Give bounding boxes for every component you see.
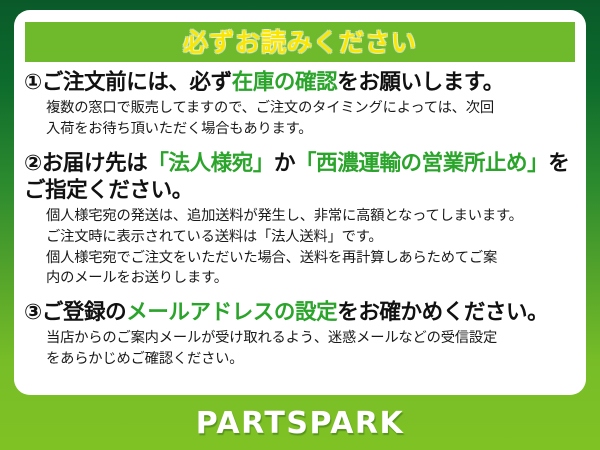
notice-heading-1: ①ご注文前には、必ず在庫の確認をお願いします。 — [22, 70, 578, 97]
heading-part-3-0: ご登録の — [42, 300, 126, 325]
heading-part-1-0: ご注文前には、必ず — [42, 70, 232, 95]
notice-body-3-line-0: 当店からのご案内メールが受け取れるよう、迷惑メールなどの受信設定 — [46, 328, 578, 349]
heading-part-2-0: お届け先は — [42, 151, 148, 176]
heading-part-1-2: をお願いします。 — [337, 70, 504, 95]
notice-body-2-line-0: 個人様宅宛の発送は、追加送料が発生し、非常に高額となってしまいます。 — [46, 206, 578, 227]
notice-body-1-line-0: 複数の窓口で販売してますので、ご注文のタイミングによっては、次回 — [46, 98, 578, 119]
partspark-logo: PARTSPARK — [196, 406, 405, 441]
heading-highlight-1-1: 在庫の確認 — [232, 70, 338, 95]
notice-body-1: 複数の窓口で販売してますので、ご注文のタイミングによっては、次回 入荷をお待ち頂… — [22, 98, 578, 139]
footer-bar: PARTSPARK — [0, 396, 600, 450]
heading-highlight-3-1: メールアドレスの設定 — [126, 300, 337, 325]
notice-body-2-line-2: 個人様宅宛でご注文をいただいた場合、送料を再計算しあらためてご案 — [46, 248, 578, 269]
notice-body-2-line-3: 内のメールをお送りします。 — [46, 268, 578, 289]
heading-part-2-2: か — [274, 151, 295, 176]
notice-marker-2: ② — [24, 151, 42, 176]
notice-marker-3: ③ — [24, 300, 42, 325]
notice-heading-2: ②お届け先は「法人様宛」か「西濃運輸の営業所止め」をご指定ください。 — [22, 151, 578, 205]
notice-heading-3: ③ご登録のメールアドレスの設定をお確かめください。 — [22, 300, 578, 327]
notice-item-3: ③ご登録のメールアドレスの設定をお確かめください。 当店からのご案内メールが受け… — [22, 300, 578, 369]
notice-body-3: 当店からのご案内メールが受け取れるよう、迷惑メールなどの受信設定 をあらかじめご… — [22, 328, 578, 369]
notice-item-2: ②お届け先は「法人様宛」か「西濃運輸の営業所止め」をご指定ください。 個人様宅宛… — [22, 151, 578, 289]
notice-list: ①ご注文前には、必ず在庫の確認をお願いします。 複数の窓口で販売してますので、ご… — [14, 70, 586, 371]
notice-body-1-line-1: 入荷をお待ち頂いただく場合もあります。 — [46, 119, 578, 140]
notice-frame: 必ずお読みください ①ご注文前には、必ず在庫の確認をお願いします。 複数の窓口で… — [0, 0, 600, 450]
heading-highlight-2-1: 「法人様宛」 — [147, 151, 274, 176]
notice-banner: 必ずお読みください — [25, 22, 575, 62]
heading-part-3-2: をお確かめください。 — [337, 300, 548, 325]
notice-body-2-line-1: ご注文時に表示されている送料は「法人送料」です。 — [46, 227, 578, 248]
notice-card: 必ずお読みください ①ご注文前には、必ず在庫の確認をお願いします。 複数の窓口で… — [14, 10, 586, 395]
notice-body-3-line-1: をあらかじめご確認ください。 — [46, 349, 578, 370]
notice-body-2: 個人様宅宛の発送は、追加送料が発生し、非常に高額となってしまいます。 ご注文時に… — [22, 206, 578, 289]
notice-item-1: ①ご注文前には、必ず在庫の確認をお願いします。 複数の窓口で販売してますので、ご… — [22, 70, 578, 139]
banner-title: 必ずお読みください — [183, 30, 417, 55]
heading-highlight-2-3: 「西濃運輸の営業所止め」 — [295, 151, 548, 176]
notice-marker-1: ① — [24, 70, 42, 95]
